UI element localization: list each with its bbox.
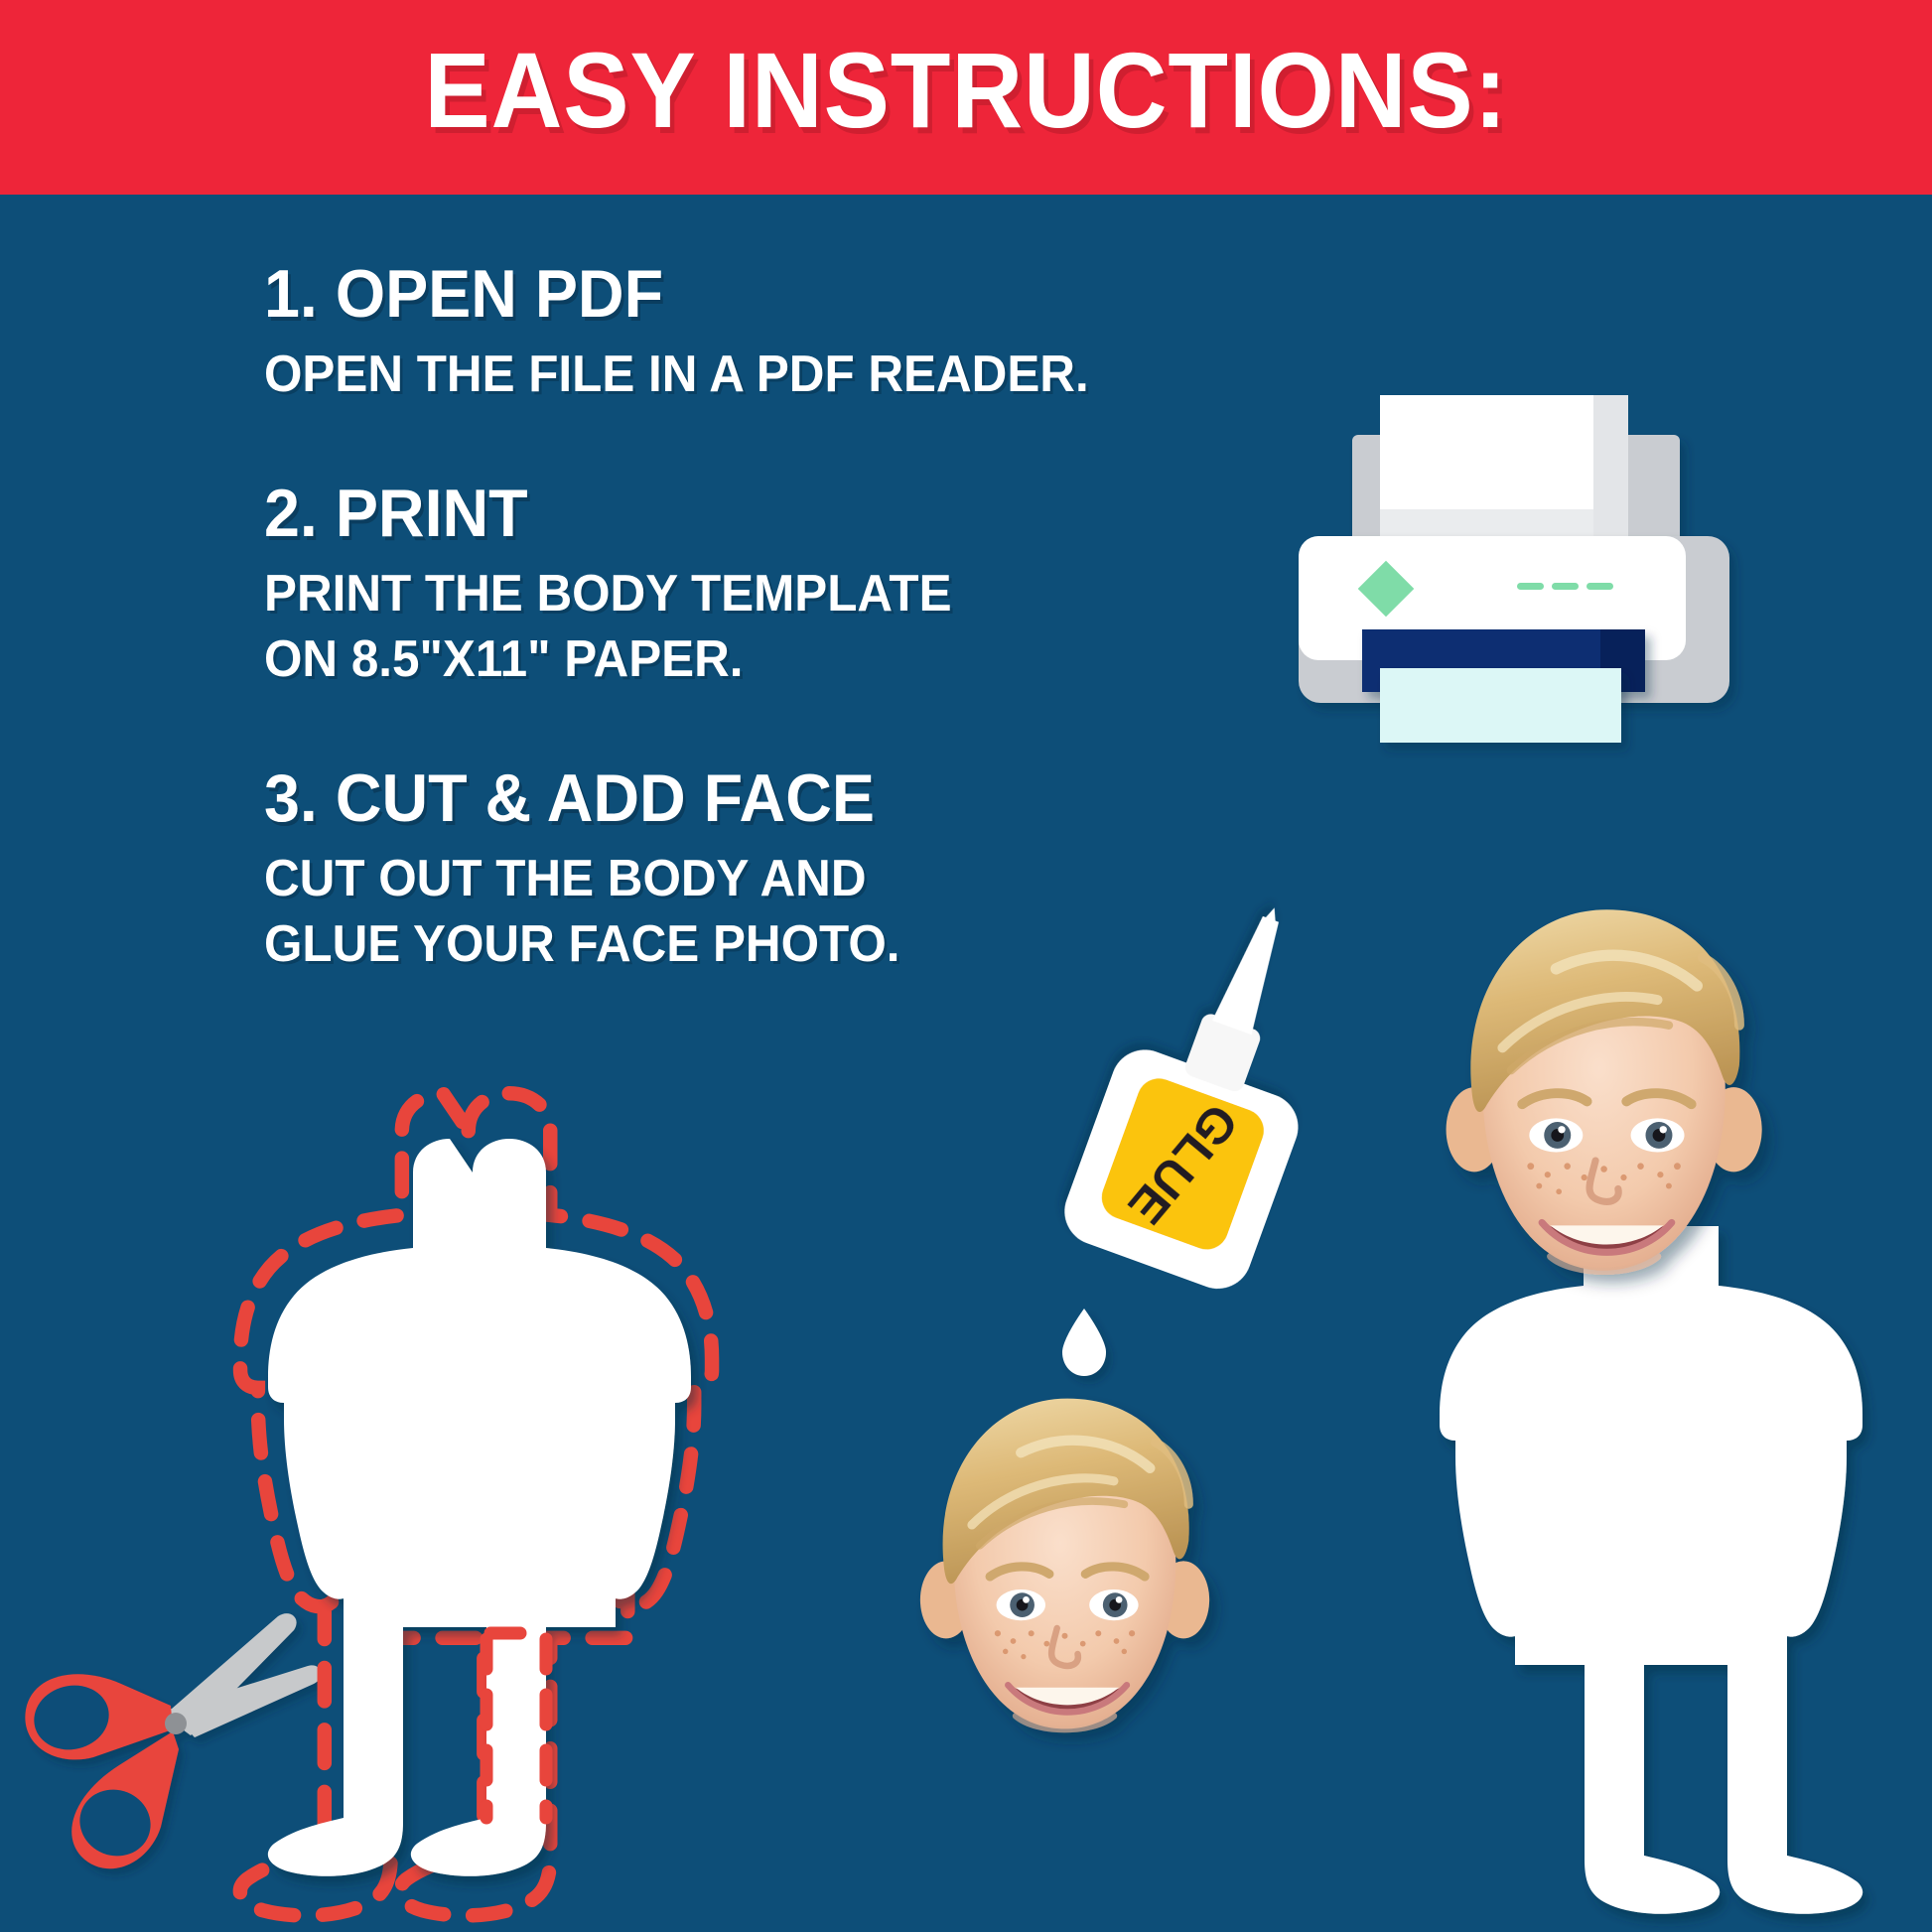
instruction-steps: 1. OPEN PDF OPEN THE FILE IN A PDF READE… <box>264 260 1257 1049</box>
finished-figure <box>1385 879 1901 1932</box>
step-1-title: 1. OPEN PDF <box>264 260 1207 328</box>
instruction-poster: EASY INSTRUCTIONS: 1. OPEN PDF OPEN THE … <box>0 0 1932 1932</box>
step-1: 1. OPEN PDF OPEN THE FILE IN A PDF READE… <box>264 260 1257 408</box>
step-2-body: PRINT THE BODY TEMPLATE ON 8.5"X11" PAPE… <box>264 561 1207 693</box>
body-template-cutout <box>226 1137 792 1931</box>
step-3-line-2: GLUE YOUR FACE PHOTO. <box>264 911 1207 978</box>
body-silhouette <box>268 1139 691 1876</box>
step-2: 2. PRINT PRINT THE BODY TEMPLATE ON 8.5"… <box>264 480 1257 693</box>
page-title: EASY INSTRUCTIONS: <box>77 28 1855 152</box>
figure-body-silhouette <box>1440 1226 1863 1914</box>
printer-icon <box>1281 365 1747 762</box>
step-3-body: CUT OUT THE BODY AND GLUE YOUR FACE PHOT… <box>264 846 1207 978</box>
step-1-body: OPEN THE FILE IN A PDF READER. <box>264 342 1207 408</box>
child-face-photo-loose <box>894 1370 1236 1757</box>
step-1-line-1: OPEN THE FILE IN A PDF READER. <box>264 342 1207 408</box>
glue-bottle-icon: GLUE <box>1023 973 1360 1390</box>
step-3: 3. CUT & ADD FACE CUT OUT THE BODY AND G… <box>264 764 1257 978</box>
step-3-title: 3. CUT & ADD FACE <box>264 764 1207 832</box>
step-3-line-1: CUT OUT THE BODY AND <box>264 846 1207 912</box>
header-banner: EASY INSTRUCTIONS: <box>0 0 1932 195</box>
step-2-line-2: ON 8.5"X11" PAPER. <box>264 626 1207 693</box>
step-2-title: 2. PRINT <box>264 480 1207 547</box>
figure-face-photo <box>1447 909 1762 1271</box>
step-2-line-1: PRINT THE BODY TEMPLATE <box>264 561 1207 627</box>
